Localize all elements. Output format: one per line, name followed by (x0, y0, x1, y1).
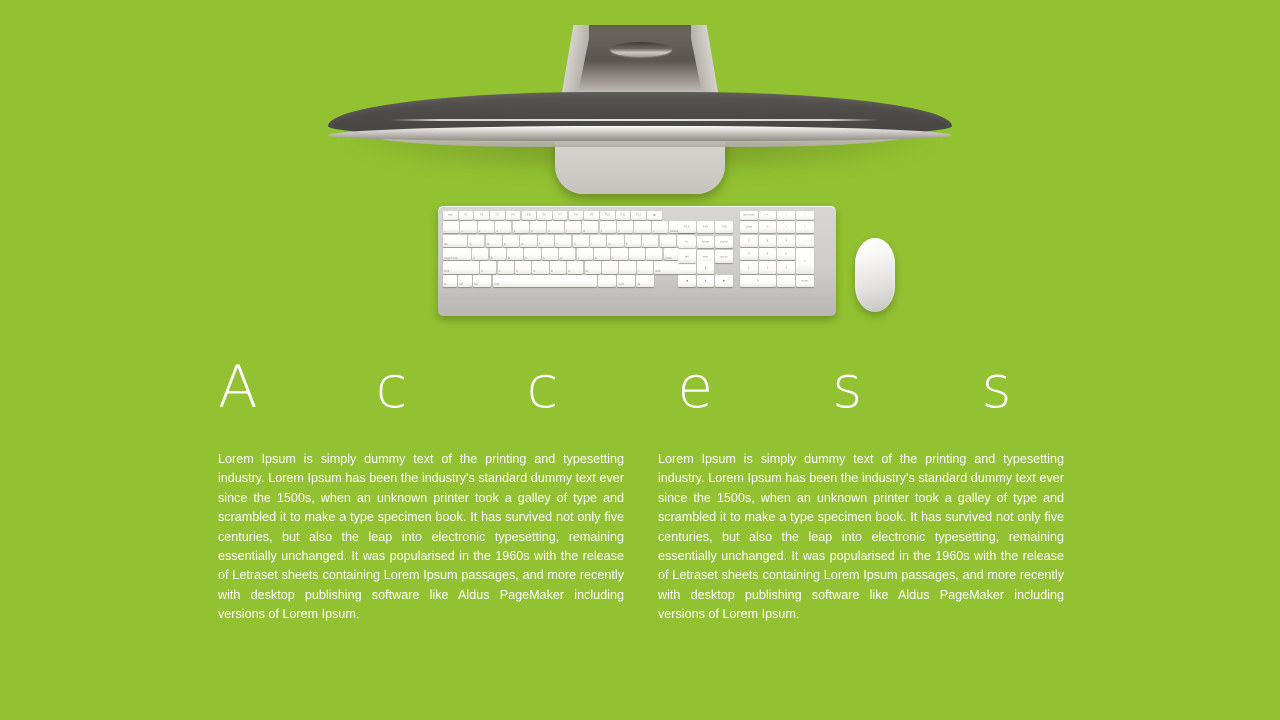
key-cmd[interactable]: cmd (617, 275, 635, 287)
key-label: ctrl (459, 283, 463, 286)
key-label: O (608, 243, 610, 246)
key-f15[interactable]: F15 (715, 221, 733, 233)
key-shift[interactable]: shift (443, 261, 479, 273)
key-fn[interactable]: fn (443, 275, 457, 287)
key-label: F14 (697, 226, 715, 229)
key-f9[interactable]: F9 (584, 211, 599, 220)
key--[interactable]: ; (629, 248, 645, 260)
key-d[interactable]: D (507, 248, 523, 260)
key--[interactable]: ⏏ (647, 211, 662, 220)
key-label: F2 (474, 214, 489, 217)
key-9[interactable]: 9 (777, 235, 795, 247)
monitor-hairline (390, 119, 878, 121)
key--[interactable]: = (759, 211, 777, 220)
body-text-left: Lorem Ipsum is simply dummy text of the … (218, 450, 624, 625)
key-label: end (697, 255, 715, 258)
key-label: 5 (759, 253, 777, 256)
key-5[interactable]: 5 (759, 248, 777, 260)
key-label: . (777, 279, 795, 282)
key-t[interactable]: T (538, 235, 554, 247)
body-text-right: Lorem Ipsum is simply dummy text of the … (658, 450, 1064, 625)
key-home[interactable]: home (697, 236, 715, 248)
key-blank[interactable] (598, 275, 616, 287)
key--[interactable]: ] (660, 235, 676, 247)
key-alt[interactable]: alt (473, 275, 491, 287)
key-label: N (568, 270, 570, 273)
key-label: 4 (740, 253, 758, 256)
key-f6[interactable]: F6 (537, 211, 552, 220)
slide-canvas: escF1F2F3F4F5F6F7F8F9F10F11F12⏏~12345678… (0, 0, 1280, 720)
key-7[interactable]: 7 (740, 235, 758, 247)
key-label: R (521, 243, 523, 246)
key--[interactable]: - (634, 221, 650, 233)
key-label: H (560, 257, 562, 260)
key--[interactable]: / (637, 261, 653, 273)
key-label: return (665, 257, 673, 260)
key-1[interactable]: 1 (740, 261, 758, 273)
key-2[interactable]: 2 (759, 261, 777, 273)
key-f13[interactable]: F13 (678, 221, 696, 233)
key-label: P (626, 243, 628, 246)
key-label: F3 (490, 214, 505, 217)
key-shift[interactable]: shift (654, 261, 696, 273)
key-label: clear (740, 226, 758, 229)
key-label: D (508, 257, 510, 260)
key-label: shift (655, 270, 660, 273)
key-label: del (678, 255, 696, 258)
key-label: / (777, 226, 795, 229)
key-q[interactable]: Q (468, 235, 484, 247)
key-c[interactable]: C (515, 261, 531, 273)
key-label: num lock (740, 214, 758, 217)
key-label: esc (443, 214, 458, 217)
key--[interactable]: ~ (443, 221, 459, 233)
key-u[interactable]: U (573, 235, 589, 247)
key-l[interactable]: L (611, 248, 627, 260)
monitor-bezel-edge (328, 126, 952, 141)
key-label: F (525, 257, 527, 260)
key-label: F4 (506, 214, 521, 217)
key--[interactable]: = (759, 221, 777, 233)
key-label: - (635, 230, 636, 233)
key-v[interactable]: V (532, 261, 548, 273)
key-label: T (539, 243, 541, 246)
key-label: F10 (600, 214, 615, 217)
key-label: 7 (740, 239, 758, 242)
key--[interactable]: = (652, 221, 668, 233)
key-4[interactable]: 4 (513, 221, 529, 233)
key-label: F5 (522, 214, 537, 217)
key-label: * (796, 226, 814, 229)
key-label: F9 (584, 214, 599, 217)
key-label: A (473, 257, 475, 260)
key--[interactable]: . (619, 261, 635, 273)
key-label: F7 (553, 214, 568, 217)
key-f[interactable]: F (524, 248, 540, 260)
key-0[interactable]: 0 (617, 221, 633, 233)
key-label: J (578, 257, 579, 260)
key-label: ~ (444, 230, 446, 233)
key-pg-dn[interactable]: pg dn (715, 250, 733, 262)
key-f3[interactable]: F3 (490, 211, 505, 220)
key-j[interactable]: J (577, 248, 593, 260)
key-label: C (516, 270, 518, 273)
key--[interactable]: , (602, 261, 618, 273)
key--[interactable]: . (777, 275, 795, 287)
key-5[interactable]: 5 (530, 221, 546, 233)
key-label: cmd (494, 283, 499, 286)
key-esc[interactable]: esc (443, 211, 458, 220)
key-a[interactable]: A (472, 248, 488, 260)
key-label: 9 (601, 230, 603, 233)
key-ctrl[interactable]: ctrl (458, 275, 472, 287)
key-n[interactable]: N (567, 261, 583, 273)
key-enter[interactable]: enter (796, 275, 814, 287)
key-label: = (759, 226, 777, 229)
key-label: ⏏ (647, 214, 662, 217)
body-columns: Lorem Ipsum is simply dummy text of the … (218, 450, 1064, 625)
key-label: W (487, 243, 490, 246)
full-size-keyboard[interactable]: escF1F2F3F4F5F6F7F8F9F10F11F12⏏~12345678… (438, 206, 836, 316)
key-label: F15 (715, 226, 733, 229)
key-8[interactable]: 8 (582, 221, 598, 233)
key-fn[interactable]: fn (678, 236, 696, 248)
key-label: 8 (759, 239, 777, 242)
key--[interactable]: / (777, 221, 795, 233)
key-label: pg up (715, 240, 733, 243)
key-label: fn (678, 240, 696, 243)
key-label: 9 (777, 239, 795, 242)
key-label: 5 (531, 230, 533, 233)
key-o[interactable]: O (607, 235, 623, 247)
key-f11[interactable]: F11 (616, 211, 631, 220)
key-3[interactable]: 3 (777, 261, 795, 273)
key-9[interactable]: 9 (600, 221, 616, 233)
key-f12[interactable]: F12 (631, 211, 646, 220)
key-z[interactable]: Z (480, 261, 496, 273)
key-label: 0 (618, 230, 620, 233)
key-label: K (595, 257, 597, 260)
key--[interactable]: [ (642, 235, 658, 247)
key-clear[interactable]: clear (740, 221, 758, 233)
key-label: U (574, 243, 576, 246)
key-label: tab (444, 243, 448, 246)
key-label: shift (444, 270, 449, 273)
desktop-monitor (320, 14, 960, 204)
key-label: pg dn (715, 255, 733, 258)
key-f5[interactable]: F5 (522, 211, 537, 220)
key-label: F1 (459, 214, 474, 217)
key-label: * (796, 214, 814, 217)
key-p[interactable]: P (625, 235, 641, 247)
key-label: 7 (566, 230, 568, 233)
key-f2[interactable]: F2 (474, 211, 489, 220)
key-h[interactable]: H (559, 248, 575, 260)
key-label: . (620, 270, 621, 273)
key-label: [ (643, 243, 644, 246)
key-y[interactable]: Y (555, 235, 571, 247)
key-label: alt (474, 283, 477, 286)
key--[interactable]: * (796, 211, 814, 220)
key-2[interactable]: 2 (478, 221, 494, 233)
key--[interactable]: - (796, 235, 814, 247)
key-label: / (638, 270, 639, 273)
key-label: I (591, 243, 592, 246)
key-label: ▶ (715, 279, 733, 282)
key-label: ; (630, 257, 631, 260)
key-label: 2 (479, 230, 481, 233)
key-label: ] (661, 243, 662, 246)
key-4[interactable]: 4 (740, 248, 758, 260)
monitor-neck-highlight (610, 42, 672, 57)
key--[interactable]: * (796, 221, 814, 233)
key-b[interactable]: B (550, 261, 566, 273)
key-i[interactable]: I (590, 235, 606, 247)
key-label: ▼ (697, 279, 715, 282)
key-del[interactable]: del (678, 250, 696, 262)
key-k[interactable]: K (594, 248, 610, 260)
key-caps-lock[interactable]: Caps Lock (443, 248, 471, 260)
key-label: 8 (583, 230, 585, 233)
page-title: Access (218, 358, 1078, 416)
key-label: M (586, 270, 588, 273)
key-label: cmd (618, 283, 623, 286)
key--[interactable]: ◀ (678, 275, 696, 287)
key-label: 2 (759, 266, 777, 269)
key-1[interactable]: 1 (460, 221, 476, 233)
magic-mouse[interactable] (855, 238, 895, 312)
key-6[interactable]: 6 (777, 248, 795, 260)
key-8[interactable]: 8 (759, 235, 777, 247)
key-label: + (796, 259, 814, 262)
key-label: 3 (777, 266, 795, 269)
key-3[interactable]: 3 (495, 221, 511, 233)
key-num-lock[interactable]: num lock (740, 211, 758, 220)
key-label: ▲ (697, 266, 715, 269)
key-label: = (759, 214, 777, 217)
key-m[interactable]: M (585, 261, 601, 273)
key-label: alt (637, 283, 640, 286)
key-label: 4 (514, 230, 516, 233)
key-label: Q (469, 243, 471, 246)
key-label: Caps Lock (444, 257, 458, 260)
key-label: V (533, 270, 535, 273)
key-label: , (603, 270, 604, 273)
key--[interactable]: ▼ (697, 275, 715, 287)
key-label: enter (796, 279, 814, 282)
key-f8[interactable]: F8 (569, 211, 584, 220)
key-s[interactable]: S (490, 248, 506, 260)
key-label: Y (556, 243, 558, 246)
key-f10[interactable]: F10 (600, 211, 615, 220)
key-label: F12 (631, 214, 646, 217)
key-label: X (499, 270, 501, 273)
key-tab[interactable]: tab (443, 235, 467, 247)
key-label: - (796, 239, 814, 242)
key-f7[interactable]: F7 (553, 211, 568, 220)
key--[interactable]: + (796, 248, 814, 274)
key-label: F13 (678, 226, 696, 229)
key-label: 1 (461, 230, 463, 233)
key-label: home (697, 240, 715, 243)
key-label: Z (481, 270, 483, 273)
key-f1[interactable]: F1 (459, 211, 474, 220)
key-label: 0 (740, 279, 776, 282)
key-label: 1 (740, 266, 758, 269)
key-label: E (504, 243, 506, 246)
key-f4[interactable]: F4 (506, 211, 521, 220)
key-pg-up[interactable]: pg up (715, 236, 733, 248)
key-label: F11 (616, 214, 631, 217)
key-f14[interactable]: F14 (697, 221, 715, 233)
key-label: L (612, 257, 614, 260)
key-label: F8 (569, 214, 584, 217)
key--[interactable]: ' (646, 248, 662, 260)
key-e[interactable]: E (503, 235, 519, 247)
key-label: 3 (496, 230, 498, 233)
key-label: ' (647, 257, 648, 260)
key-label: fn (444, 283, 446, 286)
key-7[interactable]: 7 (565, 221, 581, 233)
key-label: G (543, 257, 545, 260)
key-label: ◀ (678, 279, 696, 282)
key-label: / (777, 214, 795, 217)
key-label: S (491, 257, 493, 260)
key-label: 6 (777, 253, 795, 256)
key-x[interactable]: X (498, 261, 514, 273)
key-r[interactable]: R (520, 235, 536, 247)
key--[interactable]: ▲ (697, 261, 715, 273)
key-0[interactable]: 0 (740, 275, 776, 287)
key-alt[interactable]: alt (636, 275, 654, 287)
key-label: B (551, 270, 553, 273)
key-label: = (653, 230, 655, 233)
key-6[interactable]: 6 (547, 221, 563, 233)
key-label: 6 (548, 230, 550, 233)
key-cmd[interactable]: cmd (493, 275, 597, 287)
key--[interactable]: / (777, 211, 795, 220)
key-label: F6 (537, 214, 552, 217)
key-w[interactable]: W (486, 235, 502, 247)
key--[interactable]: ▶ (715, 275, 733, 287)
key-g[interactable]: G (542, 248, 558, 260)
